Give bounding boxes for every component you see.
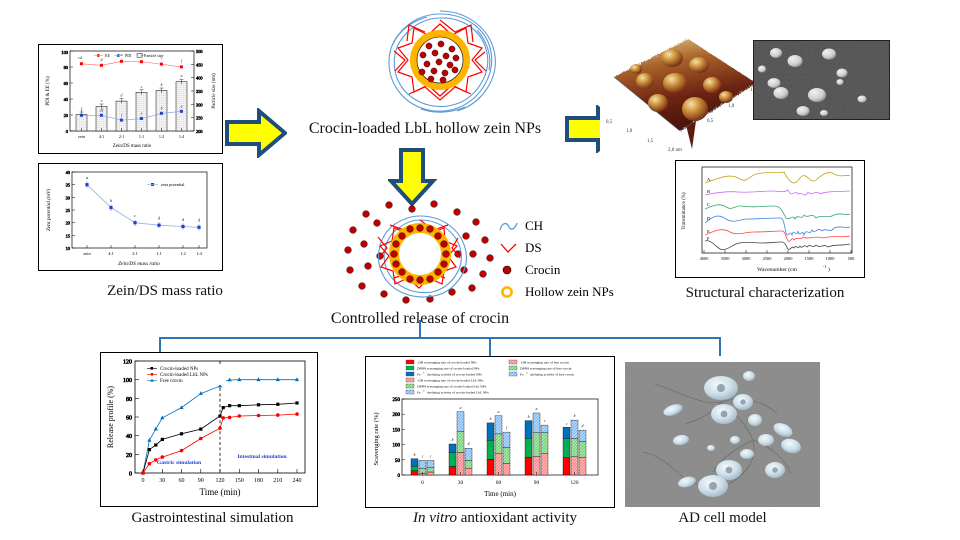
svg-text:chelating activity of crocin-l: chelating activity of crocin-loaded LbL …	[427, 391, 489, 395]
svg-text:3000: 3000	[742, 256, 752, 261]
svg-text:4:1: 4:1	[99, 134, 104, 139]
svg-text:d: d	[468, 442, 470, 446]
svg-text:DPPH scavenging rate of free c: DPPH scavenging rate of free crocin	[520, 367, 572, 371]
chart-antioxidant-activity: 0 50 100 150 200 250	[365, 356, 615, 508]
legend-item-ds: DS	[498, 240, 614, 256]
chart-ftir-spectra: ABC DEF 400035003000 250020001500 100050…	[675, 160, 865, 278]
svg-text:180: 180	[254, 478, 263, 484]
svg-text:1:2: 1:2	[180, 251, 186, 256]
svg-text:EE: EE	[105, 53, 110, 58]
svg-text:150: 150	[235, 478, 244, 484]
svg-text:60: 60	[126, 416, 132, 422]
svg-text:DPPH scavenging rate of crocin: DPPH scavenging rate of crocin-loaded Lb…	[417, 385, 487, 389]
legend-label-ds: DS	[525, 240, 542, 256]
svg-text:120: 120	[570, 480, 578, 486]
svg-text:450: 450	[196, 62, 203, 67]
svg-text:1:4: 1:4	[179, 134, 185, 139]
svg-text:C: C	[707, 202, 710, 207]
svg-text:2:1: 2:1	[132, 251, 138, 256]
svg-text:a: a	[181, 105, 183, 109]
svg-text:Fe: Fe	[417, 391, 421, 395]
svg-text:35: 35	[66, 183, 71, 188]
svg-text:1500: 1500	[805, 256, 815, 261]
svg-text:500: 500	[848, 256, 855, 261]
svg-text:210: 210	[273, 478, 282, 484]
svg-text:60: 60	[179, 478, 185, 484]
legend-item-ch: CH	[498, 218, 614, 234]
svg-text:a: a	[460, 406, 462, 410]
svg-text:3500: 3500	[721, 256, 731, 261]
caption-gastrointestinal-simulation: Gastrointestinal simulation	[110, 510, 315, 527]
legend-label-ch: CH	[525, 218, 543, 234]
ftir-ylabel: Transmittance (%)	[682, 192, 687, 230]
svg-text:b: b	[110, 198, 112, 203]
svg-text:PDI: PDI	[125, 53, 132, 58]
svg-text:400: 400	[196, 76, 203, 81]
tem-micrograph-image	[753, 40, 890, 120]
caption-structural-characterization: Structural characterization	[650, 285, 880, 302]
svg-text:chelating activity of crocin-l: chelating activity of crocin-loaded NPs	[427, 373, 482, 377]
hollow-zein-ring-icon	[498, 285, 520, 299]
svg-text:1,5: 1,5	[647, 139, 654, 144]
svg-text:d: d	[582, 424, 584, 428]
svg-text:30: 30	[66, 195, 71, 200]
svg-text:1,0: 1,0	[626, 129, 633, 134]
svg-text:0,5: 0,5	[606, 120, 613, 125]
svg-text:F: F	[707, 236, 710, 241]
legend-item-hollow-zein: Hollow zein NPs	[498, 284, 614, 300]
svg-text:2000: 2000	[784, 256, 794, 261]
svg-text:-1: -1	[823, 264, 826, 269]
svg-text:20: 20	[66, 221, 71, 226]
legend-crocin-loaded-lbl-nps: Crocin-loaded LbL NPs	[160, 373, 208, 378]
svg-text:40: 40	[126, 434, 132, 440]
svg-text:100: 100	[123, 378, 132, 384]
svg-text:a: a	[181, 74, 183, 78]
svg-text:b: b	[528, 415, 530, 419]
svg-text:60: 60	[496, 480, 502, 486]
ftir-xlabel: Wavenumber (cm	[757, 266, 797, 273]
svg-text:·OH scavenging rate of free cr: ·OH scavenging rate of free crocin	[520, 361, 569, 365]
svg-text:120: 120	[216, 478, 225, 484]
svg-text:d: d	[121, 94, 123, 98]
svg-text:0,5: 0,5	[707, 119, 714, 124]
svg-text:240: 240	[293, 478, 302, 484]
svg-text:Particle size: Particle size	[144, 53, 164, 58]
caption-ad-cell-model: AD cell model	[625, 510, 820, 527]
svg-text:20: 20	[126, 453, 132, 459]
svg-text:2,0 um: 2,0 um	[668, 148, 682, 153]
svg-text:60: 60	[64, 81, 69, 86]
svg-text:Fe: Fe	[417, 373, 421, 377]
afm-3d-surface-image: 0,5 1,0 1,5 2,0 um 1,5 1,0 0,5	[600, 25, 770, 155]
graphical-abstract: 0 20 40 60 80 100 200 250 300 350 400 45…	[0, 0, 960, 540]
svg-text:cd: cd	[100, 109, 104, 113]
annotation-intestinal: Intestinal simulation	[237, 454, 287, 460]
svg-text:zein: zein	[78, 134, 86, 139]
legend-free-crocin: Free crocin	[160, 379, 183, 384]
svg-text:2+: 2+	[526, 372, 529, 375]
svg-text:350: 350	[196, 89, 203, 94]
svg-text:30: 30	[159, 478, 165, 484]
ds-curve-icon	[498, 242, 520, 254]
legend-crocin-loaded-nps: Crocin-loaded NPs	[160, 367, 198, 372]
svg-text:150: 150	[393, 428, 401, 433]
svg-text:a: a	[86, 175, 88, 180]
svg-text:0: 0	[129, 472, 132, 478]
svg-text:500: 500	[196, 49, 203, 54]
svg-text:90: 90	[198, 478, 204, 484]
svg-text:100: 100	[61, 50, 68, 55]
svg-text:b: b	[161, 107, 163, 111]
svg-text:zein: zein	[83, 251, 91, 256]
svg-text:250: 250	[196, 116, 203, 121]
caption-in-vitro-antioxidant-activity: In vitro antioxidant activity	[380, 510, 610, 527]
svg-text:b: b	[414, 453, 416, 457]
svg-text:80: 80	[64, 65, 69, 70]
svg-text:chelating activity of free cro: chelating activity of free crocin	[530, 373, 574, 377]
svg-text:1000: 1000	[826, 256, 836, 261]
svg-text:40: 40	[66, 170, 71, 175]
chart-pdi-ee-particle-size: 0 20 40 60 80 100 200 250 300 350 400 45…	[38, 44, 223, 154]
chart-zeta-potential: 10 15 20 25 30 35 40	[38, 163, 223, 271]
chart2-ylabel: Zeta potential (mV)	[45, 189, 52, 231]
ch-curve-icon	[498, 220, 520, 232]
arrow-left-to-center	[225, 108, 287, 158]
chart-release-profile: 0 20 40 60 80 100 120 03060 90120150 180…	[100, 352, 318, 507]
legend-item-crocin: Crocin	[498, 262, 614, 278]
svg-text:·OH scavenging rate of crocin-: ·OH scavenging rate of crocin-loaded LbL…	[417, 379, 484, 383]
antiox-ylabel: Scavenging rate (%)	[373, 412, 380, 465]
svg-text:1:1: 1:1	[156, 251, 162, 256]
release-xlabel: Time (min)	[200, 487, 241, 497]
svg-text:4:1: 4:1	[108, 251, 114, 256]
svg-text:200: 200	[393, 413, 401, 418]
antiox-xlabel: Time (min)	[484, 490, 516, 498]
svg-text:a: a	[121, 53, 123, 57]
svg-text:20: 20	[64, 113, 69, 118]
svg-text:0: 0	[142, 478, 145, 484]
svg-text:0: 0	[398, 474, 401, 479]
svg-text:250: 250	[393, 398, 401, 403]
schematic-lbl-hollow-zein-np	[365, 8, 515, 118]
svg-text:10: 10	[66, 246, 71, 251]
chart1-xlabel: Zein/DS mass ratio	[113, 144, 152, 149]
svg-text:2+: 2+	[423, 372, 426, 375]
release-ylabel: Release profile (%)	[106, 386, 115, 449]
svg-text:40: 40	[64, 97, 69, 102]
chart1-ylabel: PDI & EE (%)	[46, 76, 51, 106]
svg-text:1:2: 1:2	[159, 134, 164, 139]
svg-text:4000: 4000	[700, 256, 710, 261]
svg-text:b: b	[452, 438, 454, 442]
svg-text:): )	[828, 266, 830, 273]
svg-text:90: 90	[534, 480, 540, 486]
svg-text:15: 15	[66, 233, 71, 238]
svg-text:0: 0	[66, 129, 69, 134]
legend-label-crocin: Crocin	[525, 262, 560, 278]
svg-text:zeta potential: zeta potential	[161, 182, 185, 187]
svg-text:DPPH scavenging rate of crocin: DPPH scavenging rate of crocin-loaded NP…	[417, 367, 480, 371]
svg-text:0: 0	[421, 480, 424, 486]
svg-text:50: 50	[395, 459, 401, 464]
legend-label-hollow-zein: Hollow zein NPs	[525, 284, 614, 300]
crocin-dot-icon	[498, 264, 520, 276]
svg-text:200: 200	[196, 129, 203, 134]
svg-text:25: 25	[66, 208, 71, 213]
chart1-y2label: Particle size (nm)	[212, 73, 217, 109]
svg-text:cd: cd	[78, 56, 82, 60]
svg-text:1,0: 1,0	[728, 104, 735, 109]
svg-text:80: 80	[126, 397, 132, 403]
svg-text:a: a	[498, 410, 500, 414]
svg-text:d: d	[101, 58, 103, 62]
caption-in-vitro-italic: In vitro	[413, 510, 457, 526]
schematic-legend: CH DS Crocin Hollow zein NPs	[498, 218, 614, 306]
svg-text:c: c	[134, 213, 136, 218]
svg-text:300: 300	[196, 102, 203, 107]
svg-text:E: E	[707, 229, 710, 234]
caption-zein-ds-mass-ratio: Zein/DS mass ratio	[60, 283, 270, 300]
svg-text:120: 120	[123, 360, 132, 366]
ad-cell-model-image	[625, 362, 820, 507]
svg-text:·OH scavenging rate of crocin-: ·OH scavenging rate of crocin-loaded NPs	[417, 361, 477, 365]
title-crocin-loaded-lbl-hollow-zein-nps: Crocin-loaded LbL hollow zein NPs	[295, 120, 555, 138]
svg-text:1:1: 1:1	[139, 134, 144, 139]
svg-text:2500: 2500	[763, 256, 773, 261]
svg-text:b: b	[161, 83, 163, 87]
caption-antioxidant-rest: antioxidant activity	[457, 510, 577, 526]
svg-text:2:1: 2:1	[119, 134, 124, 139]
chart2-xlabel: Zein/DS mass ratio	[118, 261, 160, 267]
svg-text:1:4: 1:4	[196, 251, 202, 256]
svg-text:2+: 2+	[423, 390, 426, 393]
svg-text:b: b	[490, 417, 492, 421]
svg-text:Fe: Fe	[520, 373, 524, 377]
svg-text:a: a	[536, 407, 538, 411]
annotation-gastric: Gastric simulation	[157, 460, 202, 466]
schematic-controlled-release	[340, 196, 500, 308]
svg-text:30: 30	[458, 480, 464, 486]
svg-text:B: B	[707, 189, 710, 194]
svg-text:b: b	[574, 414, 576, 418]
svg-text:100: 100	[393, 444, 401, 449]
